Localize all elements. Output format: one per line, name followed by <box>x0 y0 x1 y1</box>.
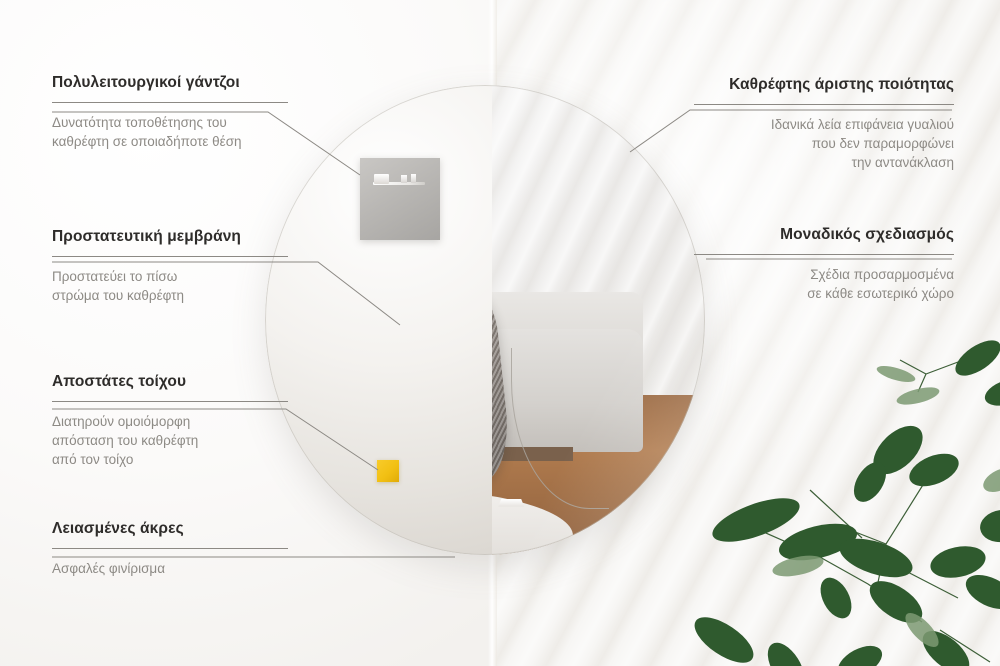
callout-edges: Λειασμένες άκρες Ασφαλές φινίρισμα <box>52 520 288 578</box>
callout-membrane-description: Προστατεύει το πίσω στρώμα του καθρέφτη <box>52 267 288 305</box>
callout-edges-title: Λειασμένες άκρες <box>52 520 288 539</box>
callout-spacers-rule <box>52 401 288 402</box>
callout-membrane-rule <box>52 256 288 257</box>
callout-spacers-title: Αποστάτες τοίχου <box>52 373 288 392</box>
callout-quality-title: Καθρέφτης άριστης ποιότητας <box>694 76 954 95</box>
callout-design-description: Σχέδια προσαρμοσμένα σε κάθε εσωτερικό χ… <box>694 265 954 303</box>
callout-design-title: Μοναδικός σχεδιασμός <box>694 226 954 245</box>
callout-hooks: Πολυλειτουργικοί γάντζοι Δυνατότητα τοπο… <box>52 74 288 151</box>
hook-bracket-large <box>374 174 389 184</box>
mirror-body <box>265 85 705 555</box>
callout-design: Μοναδικός σχεδιασμός Σχέδια προσαρμοσμέν… <box>694 226 954 303</box>
callout-membrane: Προστατευτική μεμβράνη Προστατεύει το πί… <box>52 228 288 305</box>
callout-hooks-title: Πολυλειτουργικοί γάντζοι <box>52 74 288 93</box>
callout-design-rule <box>694 254 954 255</box>
callout-spacers-description: Διατηρούν ομοιόμορφη απόσταση του καθρέφ… <box>52 412 288 469</box>
callout-quality-description: Ιδανικά λεία επιφάνεια γυαλιού που δεν π… <box>694 115 954 172</box>
hook-hardware <box>373 174 425 187</box>
callout-quality-rule <box>694 104 954 105</box>
plant-leaves-icon <box>690 330 1000 666</box>
round-mirror <box>265 85 705 555</box>
product-feature-infographic: Πολυλειτουργικοί γάντζοι Δυνατότητα τοπο… <box>0 0 1000 666</box>
hook-mount-plate <box>360 158 440 240</box>
hook-bracket-small-2 <box>411 174 416 183</box>
callout-hooks-description: Δυνατότητα τοποθέτησης του καθρέφτη σε ο… <box>52 113 288 151</box>
callout-membrane-title: Προστατευτική μεμβράνη <box>52 228 288 247</box>
foreground-plant <box>690 330 1000 666</box>
callout-spacers: Αποστάτες τοίχου Διατηρούν ομοιόμορφη απ… <box>52 373 288 469</box>
hook-bracket-small-1 <box>401 175 407 183</box>
wall-spacer-chip <box>377 460 399 482</box>
callout-hooks-rule <box>52 102 288 103</box>
callout-quality: Καθρέφτης άριστης ποιότητας Ιδανικά λεία… <box>694 76 954 172</box>
callout-edges-rule <box>52 548 288 549</box>
callout-edges-description: Ασφαλές φινίρισμα <box>52 559 288 578</box>
